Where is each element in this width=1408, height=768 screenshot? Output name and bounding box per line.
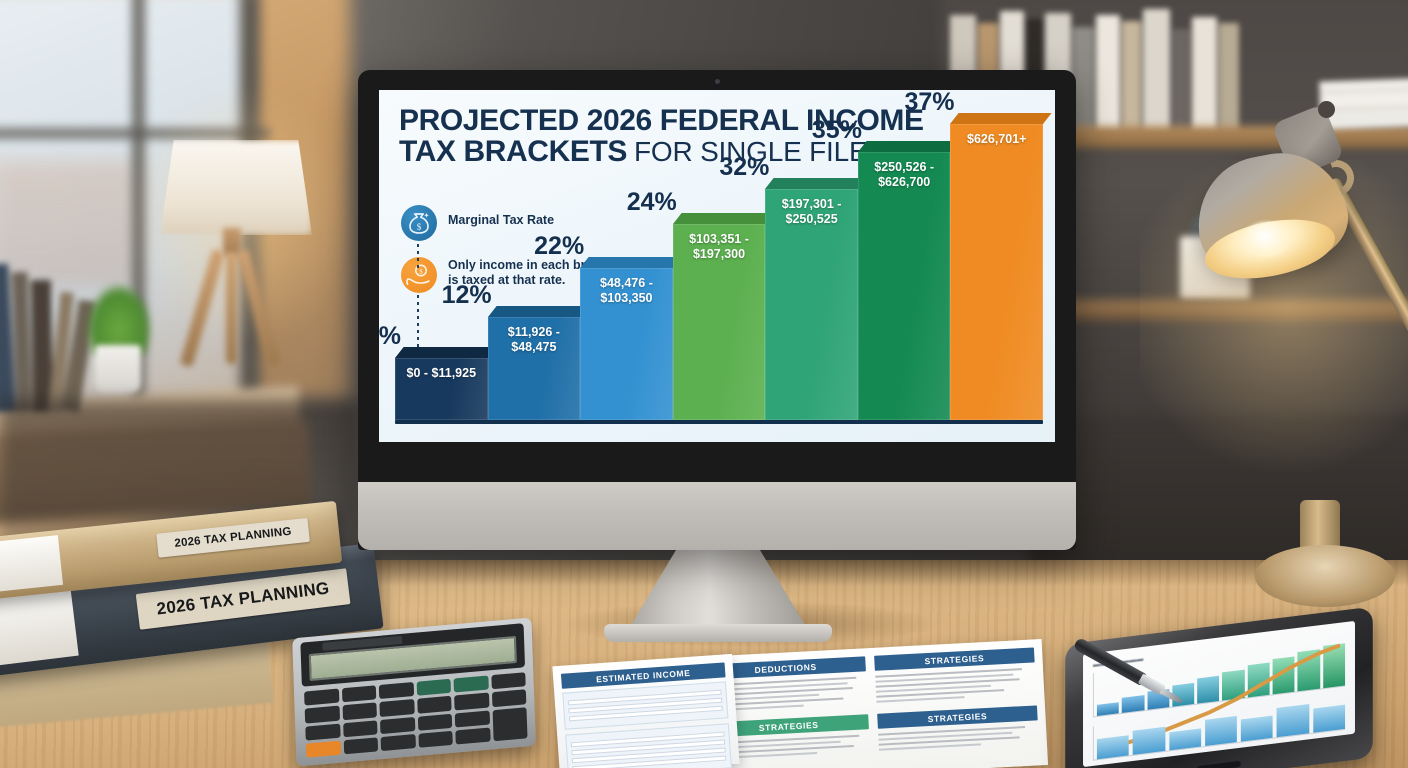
bar-group-32[interactable]: $197,301 - $250,52532% xyxy=(765,124,858,420)
bar-range-label: $0 - $11,925 xyxy=(398,366,485,381)
bar-top-face xyxy=(395,347,496,358)
paper-sheet-left[interactable]: ESTIMATED INCOME xyxy=(552,654,739,768)
monitor-stand-foot xyxy=(604,624,832,642)
bar-group-12[interactable]: $11,926 - $48,47512% xyxy=(488,124,581,420)
paper-header-estimated-income-text: ESTIMATED INCOME xyxy=(596,667,691,684)
bar-rate-label: 12% xyxy=(442,281,492,310)
bar[interactable]: $0 - $11,92510% xyxy=(395,358,488,420)
bar-rate-label: 37% xyxy=(904,90,954,117)
table-lamp-leg xyxy=(226,252,237,364)
bar[interactable]: $48,476 - $103,35022% xyxy=(580,268,673,420)
monitor-screen[interactable]: PROJECTED 2026 FEDERAL INCOME TAX BRACKE… xyxy=(379,90,1055,442)
tax-bracket-infographic: PROJECTED 2026 FEDERAL INCOME TAX BRACKE… xyxy=(379,90,1055,442)
monitor[interactable]: PROJECTED 2026 FEDERAL INCOME TAX BRACKE… xyxy=(358,70,1076,550)
bar-top-face xyxy=(858,141,959,152)
bar-rate-label: 35% xyxy=(812,116,862,145)
bar-top-face xyxy=(488,306,589,317)
table-lamp-shade xyxy=(160,140,312,235)
bar[interactable]: $626,701+37% xyxy=(950,124,1043,420)
bar-chart: $0 - $11,92510%$11,926 - $48,47512%$48,4… xyxy=(389,124,1047,424)
paper-sheet-right[interactable]: DEDUCTIONS STRATEGIES xyxy=(697,639,1048,768)
paper-header-strategies-2-text: STRATEGIES xyxy=(759,719,819,732)
bar-group-22[interactable]: $48,476 - $103,35022% xyxy=(580,124,673,420)
bar[interactable]: $197,301 - $250,52532% xyxy=(765,189,858,420)
paper-header-deductions-text: DEDUCTIONS xyxy=(754,661,817,674)
paper-header-strategies-1: STRATEGIES xyxy=(874,647,1035,670)
bar-chart-bars: $0 - $11,92510%$11,926 - $48,47512%$48,4… xyxy=(395,124,1043,420)
desk-lamp-base xyxy=(1255,545,1395,607)
chart-baseline xyxy=(395,420,1043,424)
webcam-icon xyxy=(715,79,720,84)
bar-range-label: $626,701+ xyxy=(953,132,1040,147)
paper-form-block xyxy=(562,681,728,729)
bar[interactable]: $250,526 - $626,70035% xyxy=(858,152,951,420)
bar-group-37[interactable]: $626,701+37% xyxy=(950,124,1043,420)
bar-group-35[interactable]: $250,526 - $626,70035% xyxy=(858,124,951,420)
bar-rate-label: 22% xyxy=(534,232,584,261)
office-scene: 2026 TAX PLANNING 2026 TAX PLANNING xyxy=(0,0,1408,768)
bar-top-face xyxy=(673,213,774,224)
monitor-chin xyxy=(358,482,1076,550)
paper-body-lines xyxy=(875,667,1036,702)
calculator[interactable] xyxy=(292,617,536,766)
light-bulb-icon xyxy=(1243,222,1291,258)
paper-form-block-2 xyxy=(565,723,732,768)
plant-pot xyxy=(95,345,141,393)
bar-range-label: $197,301 - $250,525 xyxy=(768,197,855,226)
paper-body-lines xyxy=(878,725,1039,750)
bar-range-label: $103,351 - $197,300 xyxy=(676,232,763,261)
bar-range-label: $48,476 - $103,350 xyxy=(583,276,670,305)
bar-rate-label: 24% xyxy=(627,188,677,217)
bar[interactable]: $11,926 - $48,47512% xyxy=(488,317,581,420)
paper-header-strategies-3: STRATEGIES xyxy=(877,705,1038,728)
bar-top-face xyxy=(765,178,866,189)
bar-group-10[interactable]: $0 - $11,92510% xyxy=(395,124,488,420)
bar[interactable]: $103,351 - $197,30024% xyxy=(673,224,766,420)
bar-rate-label: 10% xyxy=(379,322,401,351)
bar-rate-label: 32% xyxy=(719,153,769,182)
bar-top-face xyxy=(950,113,1051,124)
paper-header-strategies-1-text: STRATEGIES xyxy=(924,653,984,666)
bar-top-face xyxy=(580,257,681,268)
bar-range-label: $11,926 - $48,475 xyxy=(491,325,578,354)
paper-header-strategies-3-text: STRATEGIES xyxy=(927,711,987,724)
desk-lamp-knob[interactable] xyxy=(1318,101,1335,118)
bar-range-label: $250,526 - $626,700 xyxy=(861,160,948,189)
